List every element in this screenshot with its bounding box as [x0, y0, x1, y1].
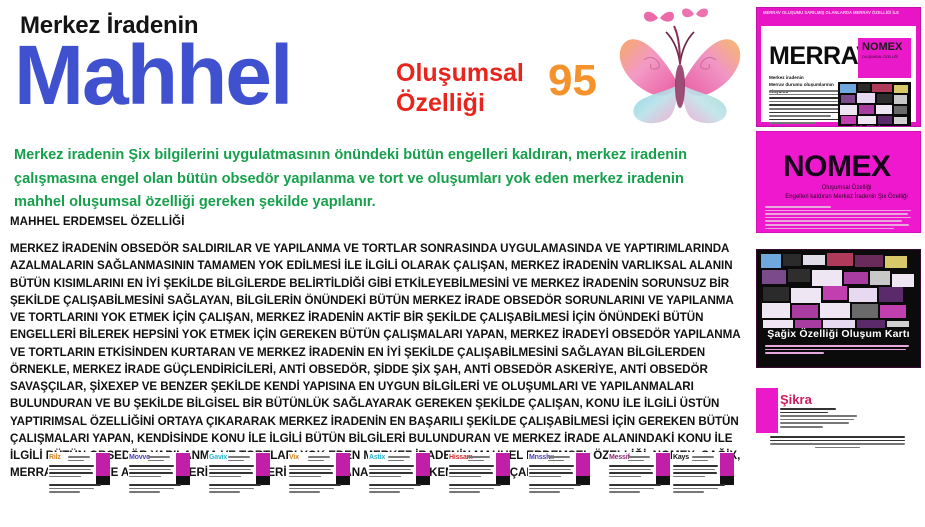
merrav-sub-line1: Merkez iradenin	[769, 74, 846, 81]
page-title: Mahhel	[14, 33, 291, 117]
bottom-thumbnail-magenta-block-2	[96, 467, 110, 476]
thumbnail-nomex-card[interactable]: NOMEX Oluşumsal Özelliği Engelleri kaldı…	[756, 131, 921, 233]
bottom-thumbnail-footer-lines	[449, 484, 501, 495]
bottom-thumbnail-footer-lines	[529, 484, 581, 495]
bottom-thumbnail-footer-lines	[609, 484, 661, 495]
bottom-thumbnail-name: Movvo	[129, 454, 150, 461]
page-subtitle-line2: Özelliği	[396, 89, 485, 117]
bottom-thumbnail-magenta-block	[416, 453, 430, 467]
section-body: MERKEZ İRADENİN OBSEDÖR SALDIRILAR VE YA…	[10, 240, 746, 482]
merrav-title: MERRAV	[769, 42, 872, 71]
bottom-thumbnail-magenta-block	[496, 453, 510, 467]
nomex-body-lines	[765, 206, 912, 231]
page-number-badge: 95	[548, 59, 597, 103]
bottom-thumbnail-footer-lines	[129, 484, 181, 495]
nomex-badge-sub: OLUŞUMSAL ÖZELLİĞİ	[862, 55, 908, 60]
bottom-thumbnail-name: Vix	[289, 454, 299, 461]
butterfly-icon	[612, 2, 748, 134]
bottom-thumbnail-header-lines	[468, 456, 490, 463]
merrav-body-lines	[769, 90, 847, 126]
bottom-thumbnail-card[interactable]: Hissam	[448, 452, 510, 494]
bottom-thumbnail-name: Rilz	[49, 454, 61, 461]
sidebar-thumbnails: MERRAV OLUŞUMU SARILMIŞ OLANLARDA MERRAV…	[750, 0, 925, 527]
bottom-thumbnail-header-lines	[68, 456, 90, 463]
bottom-thumbnail-magenta-block-2	[576, 467, 590, 476]
page-subtitle-line1: Oluşumsal	[396, 59, 524, 87]
bottom-thumbnail-body-lines	[609, 465, 654, 479]
bottom-thumbnail-footer-lines	[673, 484, 725, 495]
bottom-thumbnail-footer-lines	[369, 484, 421, 495]
bottom-thumbnail-magenta-block-2	[176, 467, 190, 476]
bottom-thumbnail-card[interactable]: Messif	[608, 452, 670, 494]
bottom-thumbnail-header-lines	[148, 456, 170, 463]
sikra-title: Şikra	[780, 392, 812, 407]
bottom-thumbnail-header-lines	[388, 456, 410, 463]
sagix-caption-lines	[765, 345, 912, 356]
bottom-thumbnail-body-lines	[369, 465, 414, 479]
sikra-side-strip	[756, 388, 778, 433]
bottom-thumbnail-footer-lines	[49, 484, 101, 495]
page-subtitle: Oluşumsal Özelliği	[396, 58, 524, 118]
thumbnail-sikra-card[interactable]: Şikra	[756, 380, 919, 450]
merrav-grid-collage: Şağix Özelliği Oluşum Kartı	[838, 82, 911, 127]
sagix-caption: Şağix Özelliği Oluşum Kartı	[757, 328, 920, 340]
bottom-thumbnail-magenta-block	[656, 453, 670, 467]
bottom-thumbnail-magenta-block-2	[496, 467, 510, 476]
bottom-thumbnail-card[interactable]: Rilz	[48, 452, 110, 494]
nomex-title: NOMEX	[783, 150, 891, 184]
section-heading: MAHHEL ERDEMSEL ÖZELLİĞİ	[10, 216, 184, 228]
bottom-thumbnail-card[interactable]: Gavix	[208, 452, 270, 494]
merrav-banner: MERRAV OLUŞUMU SARILMIŞ OLANLARDA MERRAV…	[763, 10, 916, 25]
bottom-thumbnail-body-lines	[529, 465, 574, 479]
bottom-thumbnail-magenta-block	[336, 453, 350, 467]
bottom-thumbnail-body-lines	[289, 465, 334, 479]
bottom-thumbnail-body-lines	[673, 465, 718, 479]
bottom-thumbnail-strip: RilzMovvoGavixVixAstixHissamMnsshxMessif…	[0, 452, 750, 527]
nomex-sub-line2: Engelleri kaldıran Merkez İradenin Şix Ö…	[783, 193, 910, 202]
bottom-thumbnail-name: Kays	[673, 454, 689, 461]
bottom-thumbnail-magenta-block-2	[336, 467, 350, 476]
bottom-thumbnail-header-lines	[628, 456, 650, 463]
bottom-thumbnail-header-lines	[308, 456, 330, 463]
thumbnail-merrav-card[interactable]: MERRAV OLUŞUMU SARILMIŞ OLANLARDA MERRAV…	[756, 7, 921, 127]
bottom-thumbnail-header-lines	[228, 456, 250, 463]
bottom-thumbnail-card[interactable]: Vix	[288, 452, 350, 494]
bottom-thumbnail-name: Astix	[369, 454, 385, 461]
nomex-subtitle: Oluşumsal Özelliği Engelleri kaldıran Me…	[783, 184, 910, 202]
bottom-thumbnail-card[interactable]: Movvo	[128, 452, 190, 494]
bottom-thumbnail-footer-lines	[209, 484, 261, 495]
merrav-card-inner: MERRAV Merkez iradenin Merrav durumu olu…	[761, 26, 916, 122]
thumbnail-sagix-card[interactable]: Şağix Özelliği Oluşum Kartı	[756, 249, 921, 368]
bottom-thumbnail-card[interactable]: Mnsshx	[528, 452, 590, 494]
bottom-thumbnail-magenta-block	[576, 453, 590, 467]
bottom-thumbnail-header-lines	[692, 456, 714, 463]
bottom-thumbnail-magenta-block	[720, 453, 734, 467]
nomex-sub-line1: Oluşumsal Özelliği	[783, 184, 910, 193]
bottom-thumbnail-magenta-block	[256, 453, 270, 467]
bottom-thumbnail-magenta-block-2	[256, 467, 270, 476]
bottom-thumbnail-body-lines	[129, 465, 174, 479]
bottom-thumbnail-magenta-block	[96, 453, 110, 467]
bottom-thumbnail-magenta-block-2	[416, 467, 430, 476]
merrav-nomex-badge: NOMEX OLUŞUMSAL ÖZELLİĞİ	[858, 38, 911, 78]
bottom-thumbnail-magenta-block-2	[720, 467, 734, 476]
sikra-header-lines	[780, 408, 860, 430]
main-content: Merkez İradenin Mahhel Oluşumsal Özelliğ…	[0, 0, 750, 527]
intro-paragraph: Merkez iradenin Şix bilgilerini uygulatm…	[14, 144, 714, 215]
bottom-thumbnail-magenta-block-2	[656, 467, 670, 476]
sikra-footer-lines	[770, 436, 905, 450]
bottom-thumbnail-body-lines	[49, 465, 94, 479]
bottom-thumbnail-name: Gavix	[209, 454, 227, 461]
merrav-grid-caption: Şağix Özelliği Oluşum Kartı	[840, 125, 909, 127]
bottom-thumbnail-body-lines	[449, 465, 494, 479]
poster-root: Merkez İradenin Mahhel Oluşumsal Özelliğ…	[0, 0, 925, 527]
bottom-thumbnail-magenta-block	[176, 453, 190, 467]
bottom-thumbnail-footer-lines	[289, 484, 341, 495]
bottom-thumbnail-card[interactable]: Kays	[672, 452, 734, 494]
bottom-thumbnail-name: Messif	[609, 454, 630, 461]
bottom-thumbnail-body-lines	[209, 465, 254, 479]
nomex-badge-title: NOMEX	[862, 41, 902, 53]
bottom-thumbnail-card[interactable]: Astix	[368, 452, 430, 494]
bottom-thumbnail-header-lines	[548, 456, 570, 463]
